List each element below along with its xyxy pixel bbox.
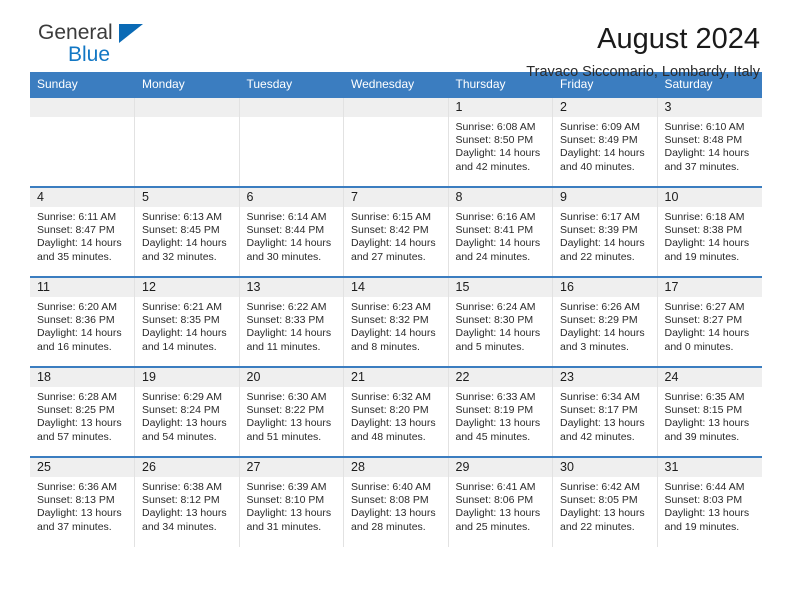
day-info: Sunrise: 6:22 AM Sunset: 8:33 PM Dayligh… [240,297,344,354]
sunrise-sunset-calendar: Sunday Monday Tuesday Wednesday Thursday… [30,72,762,547]
daylight-text-line1: Daylight: 14 hours [665,327,758,340]
sunrise-text: Sunrise: 6:35 AM [665,391,758,404]
daylight-text-line1: Daylight: 13 hours [142,417,235,430]
day-cell[interactable]: 22 Sunrise: 6:33 AM Sunset: 8:19 PM Dayl… [448,367,553,457]
weekday-header-wednesday: Wednesday [344,72,449,97]
daylight-text-line2: and 16 minutes. [37,341,130,354]
day-cell[interactable]: 16 Sunrise: 6:26 AM Sunset: 8:29 PM Dayl… [553,277,658,367]
daylight-text-line2: and 42 minutes. [560,431,653,444]
daylight-text-line1: Daylight: 14 hours [247,237,340,250]
sunset-text: Sunset: 8:39 PM [560,224,653,237]
day-cell[interactable]: 8 Sunrise: 6:16 AM Sunset: 8:41 PM Dayli… [448,187,553,277]
daylight-text-line1: Daylight: 13 hours [456,507,549,520]
day-info [240,117,344,121]
day-number: 15 [449,278,553,297]
sunrise-text: Sunrise: 6:33 AM [456,391,549,404]
sunrise-text: Sunrise: 6:40 AM [351,481,444,494]
day-info: Sunrise: 6:08 AM Sunset: 8:50 PM Dayligh… [449,117,553,174]
day-cell[interactable]: 26 Sunrise: 6:38 AM Sunset: 8:12 PM Dayl… [135,457,240,547]
sunset-text: Sunset: 8:13 PM [37,494,130,507]
sunset-text: Sunset: 8:44 PM [247,224,340,237]
sunrise-text: Sunrise: 6:21 AM [142,301,235,314]
sunrise-text: Sunrise: 6:23 AM [351,301,444,314]
daylight-text-line1: Daylight: 14 hours [37,327,130,340]
sunrise-text: Sunrise: 6:36 AM [37,481,130,494]
day-info: Sunrise: 6:24 AM Sunset: 8:30 PM Dayligh… [449,297,553,354]
day-info: Sunrise: 6:40 AM Sunset: 8:08 PM Dayligh… [344,477,448,534]
daylight-text-line1: Daylight: 13 hours [665,507,758,520]
sunset-text: Sunset: 8:08 PM [351,494,444,507]
day-info [135,117,239,121]
day-cell[interactable]: 14 Sunrise: 6:23 AM Sunset: 8:32 PM Dayl… [344,277,449,367]
sunrise-text: Sunrise: 6:13 AM [142,211,235,224]
day-cell[interactable] [344,97,449,187]
weekday-header-monday: Monday [135,72,240,97]
page-header: General Blue August 2024 Travaco Siccoma… [30,0,762,72]
day-cell[interactable]: 23 Sunrise: 6:34 AM Sunset: 8:17 PM Dayl… [553,367,658,457]
sunrise-text: Sunrise: 6:30 AM [247,391,340,404]
week-row: 4 Sunrise: 6:11 AM Sunset: 8:47 PM Dayli… [30,187,762,277]
sunrise-text: Sunrise: 6:16 AM [456,211,549,224]
day-number: 7 [344,188,448,207]
daylight-text-line2: and 19 minutes. [665,521,758,534]
daylight-text-line2: and 42 minutes. [456,161,549,174]
day-number [135,98,239,117]
sunrise-text: Sunrise: 6:39 AM [247,481,340,494]
daylight-text-line2: and 5 minutes. [456,341,549,354]
daylight-text-line1: Daylight: 13 hours [351,507,444,520]
daylight-text-line1: Daylight: 14 hours [142,237,235,250]
daylight-text-line1: Daylight: 14 hours [142,327,235,340]
day-number: 11 [30,278,134,297]
day-cell[interactable]: 21 Sunrise: 6:32 AM Sunset: 8:20 PM Dayl… [344,367,449,457]
week-row: 18 Sunrise: 6:28 AM Sunset: 8:25 PM Dayl… [30,367,762,457]
sunrise-text: Sunrise: 6:20 AM [37,301,130,314]
daylight-text-line2: and 39 minutes. [665,431,758,444]
sunset-text: Sunset: 8:12 PM [142,494,235,507]
sunrise-text: Sunrise: 6:42 AM [560,481,653,494]
daylight-text-line2: and 45 minutes. [456,431,549,444]
day-number: 14 [344,278,448,297]
daylight-text-line2: and 35 minutes. [37,251,130,264]
daylight-text-line1: Daylight: 14 hours [665,237,758,250]
sunrise-text: Sunrise: 6:34 AM [560,391,653,404]
sunrise-text: Sunrise: 6:11 AM [37,211,130,224]
day-cell[interactable]: 5 Sunrise: 6:13 AM Sunset: 8:45 PM Dayli… [135,187,240,277]
day-cell[interactable]: 31 Sunrise: 6:44 AM Sunset: 8:03 PM Dayl… [657,457,762,547]
day-info: Sunrise: 6:09 AM Sunset: 8:49 PM Dayligh… [553,117,657,174]
sunrise-text: Sunrise: 6:27 AM [665,301,758,314]
day-info: Sunrise: 6:18 AM Sunset: 8:38 PM Dayligh… [658,207,762,264]
day-number: 27 [240,458,344,477]
sunset-text: Sunset: 8:10 PM [247,494,340,507]
day-info: Sunrise: 6:29 AM Sunset: 8:24 PM Dayligh… [135,387,239,444]
daylight-text-line1: Daylight: 14 hours [37,237,130,250]
day-cell[interactable]: 20 Sunrise: 6:30 AM Sunset: 8:22 PM Dayl… [239,367,344,457]
daylight-text-line2: and 11 minutes. [247,341,340,354]
calendar-page: General Blue August 2024 Travaco Siccoma… [0,0,792,612]
sunset-text: Sunset: 8:24 PM [142,404,235,417]
sunset-text: Sunset: 8:38 PM [665,224,758,237]
sunset-text: Sunset: 8:03 PM [665,494,758,507]
sunrise-text: Sunrise: 6:17 AM [560,211,653,224]
sunset-text: Sunset: 8:47 PM [37,224,130,237]
daylight-text-line1: Daylight: 14 hours [456,237,549,250]
daylight-text-line1: Daylight: 14 hours [456,327,549,340]
sunrise-text: Sunrise: 6:26 AM [560,301,653,314]
daylight-text-line2: and 40 minutes. [560,161,653,174]
daylight-text-line1: Daylight: 13 hours [560,507,653,520]
daylight-text-line1: Daylight: 14 hours [560,237,653,250]
daylight-text-line2: and 8 minutes. [351,341,444,354]
day-cell[interactable] [239,97,344,187]
day-number: 31 [658,458,762,477]
day-number: 21 [344,368,448,387]
daylight-text-line2: and 22 minutes. [560,251,653,264]
day-cell[interactable]: 27 Sunrise: 6:39 AM Sunset: 8:10 PM Dayl… [239,457,344,547]
sunrise-text: Sunrise: 6:24 AM [456,301,549,314]
daylight-text-line1: Daylight: 13 hours [351,417,444,430]
day-number: 10 [658,188,762,207]
sunset-text: Sunset: 8:27 PM [665,314,758,327]
day-cell[interactable]: 7 Sunrise: 6:15 AM Sunset: 8:42 PM Dayli… [344,187,449,277]
sunrise-text: Sunrise: 6:32 AM [351,391,444,404]
day-cell[interactable]: 9 Sunrise: 6:17 AM Sunset: 8:39 PM Dayli… [553,187,658,277]
sunset-text: Sunset: 8:32 PM [351,314,444,327]
sunset-text: Sunset: 8:19 PM [456,404,549,417]
daylight-text-line1: Daylight: 13 hours [665,417,758,430]
day-number [30,98,134,117]
daylight-text-line2: and 31 minutes. [247,521,340,534]
sunrise-text: Sunrise: 6:41 AM [456,481,549,494]
daylight-text-line1: Daylight: 13 hours [247,417,340,430]
day-info: Sunrise: 6:32 AM Sunset: 8:20 PM Dayligh… [344,387,448,444]
sunset-text: Sunset: 8:41 PM [456,224,549,237]
day-info: Sunrise: 6:35 AM Sunset: 8:15 PM Dayligh… [658,387,762,444]
day-number: 24 [658,368,762,387]
daylight-text-line2: and 22 minutes. [560,521,653,534]
day-number: 18 [30,368,134,387]
day-info: Sunrise: 6:21 AM Sunset: 8:35 PM Dayligh… [135,297,239,354]
daylight-text-line2: and 37 minutes. [37,521,130,534]
sunrise-text: Sunrise: 6:29 AM [142,391,235,404]
daylight-text-line2: and 25 minutes. [456,521,549,534]
day-cell[interactable]: 19 Sunrise: 6:29 AM Sunset: 8:24 PM Dayl… [135,367,240,457]
day-cell[interactable]: 29 Sunrise: 6:41 AM Sunset: 8:06 PM Dayl… [448,457,553,547]
day-info: Sunrise: 6:39 AM Sunset: 8:10 PM Dayligh… [240,477,344,534]
day-number: 23 [553,368,657,387]
sunset-text: Sunset: 8:48 PM [665,134,758,147]
day-cell[interactable]: 25 Sunrise: 6:36 AM Sunset: 8:13 PM Dayl… [30,457,135,547]
sunset-text: Sunset: 8:15 PM [665,404,758,417]
daylight-text-line2: and 19 minutes. [665,251,758,264]
daylight-text-line2: and 51 minutes. [247,431,340,444]
day-info: Sunrise: 6:16 AM Sunset: 8:41 PM Dayligh… [449,207,553,264]
daylight-text-line2: and 24 minutes. [456,251,549,264]
day-info: Sunrise: 6:11 AM Sunset: 8:47 PM Dayligh… [30,207,134,264]
daylight-text-line1: Daylight: 13 hours [456,417,549,430]
sunset-text: Sunset: 8:22 PM [247,404,340,417]
day-info: Sunrise: 6:44 AM Sunset: 8:03 PM Dayligh… [658,477,762,534]
daylight-text-line1: Daylight: 14 hours [560,147,653,160]
day-info: Sunrise: 6:34 AM Sunset: 8:17 PM Dayligh… [553,387,657,444]
daylight-text-line2: and 37 minutes. [665,161,758,174]
daylight-text-line2: and 57 minutes. [37,431,130,444]
day-number: 28 [344,458,448,477]
sunset-text: Sunset: 8:50 PM [456,134,549,147]
sunset-text: Sunset: 8:06 PM [456,494,549,507]
day-cell[interactable]: 18 Sunrise: 6:28 AM Sunset: 8:25 PM Dayl… [30,367,135,457]
sunset-text: Sunset: 8:17 PM [560,404,653,417]
day-cell[interactable]: 30 Sunrise: 6:42 AM Sunset: 8:05 PM Dayl… [553,457,658,547]
day-info [344,117,448,121]
daylight-text-line2: and 3 minutes. [560,341,653,354]
daylight-text-line2: and 34 minutes. [142,521,235,534]
general-blue-logo: General Blue [30,22,180,70]
daylight-text-line1: Daylight: 14 hours [351,327,444,340]
day-number [240,98,344,117]
logo-text-blue: Blue [68,44,180,66]
day-info: Sunrise: 6:23 AM Sunset: 8:32 PM Dayligh… [344,297,448,354]
day-info: Sunrise: 6:15 AM Sunset: 8:42 PM Dayligh… [344,207,448,264]
day-info: Sunrise: 6:33 AM Sunset: 8:19 PM Dayligh… [449,387,553,444]
day-number [344,98,448,117]
sunset-text: Sunset: 8:42 PM [351,224,444,237]
day-cell[interactable]: 2 Sunrise: 6:09 AM Sunset: 8:49 PM Dayli… [553,97,658,187]
daylight-text-line1: Daylight: 14 hours [456,147,549,160]
day-number: 9 [553,188,657,207]
calendar-body: 1 Sunrise: 6:08 AM Sunset: 8:50 PM Dayli… [30,97,762,547]
daylight-text-line2: and 32 minutes. [142,251,235,264]
day-info: Sunrise: 6:26 AM Sunset: 8:29 PM Dayligh… [553,297,657,354]
day-cell[interactable] [135,97,240,187]
day-number: 8 [449,188,553,207]
week-row: 1 Sunrise: 6:08 AM Sunset: 8:50 PM Dayli… [30,97,762,187]
sunset-text: Sunset: 8:35 PM [142,314,235,327]
day-number: 17 [658,278,762,297]
day-info: Sunrise: 6:27 AM Sunset: 8:27 PM Dayligh… [658,297,762,354]
day-number: 4 [30,188,134,207]
daylight-text-line1: Daylight: 13 hours [560,417,653,430]
day-info: Sunrise: 6:20 AM Sunset: 8:36 PM Dayligh… [30,297,134,354]
day-info: Sunrise: 6:10 AM Sunset: 8:48 PM Dayligh… [658,117,762,174]
weekday-header-sunday: Sunday [30,72,135,97]
page-title: August 2024 [526,22,760,56]
title-block: August 2024 Travaco Siccomario, Lombardy… [526,22,762,82]
sunrise-text: Sunrise: 6:18 AM [665,211,758,224]
day-number: 12 [135,278,239,297]
day-cell[interactable]: 1 Sunrise: 6:08 AM Sunset: 8:50 PM Dayli… [448,97,553,187]
daylight-text-line2: and 28 minutes. [351,521,444,534]
day-cell[interactable]: 6 Sunrise: 6:14 AM Sunset: 8:44 PM Dayli… [239,187,344,277]
day-cell[interactable]: 11 Sunrise: 6:20 AM Sunset: 8:36 PM Dayl… [30,277,135,367]
day-info: Sunrise: 6:28 AM Sunset: 8:25 PM Dayligh… [30,387,134,444]
week-row: 11 Sunrise: 6:20 AM Sunset: 8:36 PM Dayl… [30,277,762,367]
daylight-text-line2: and 0 minutes. [665,341,758,354]
logo-triangle-icon [119,24,143,43]
sunrise-text: Sunrise: 6:22 AM [247,301,340,314]
daylight-text-line1: Daylight: 14 hours [247,327,340,340]
sunset-text: Sunset: 8:36 PM [37,314,130,327]
day-number: 3 [658,98,762,117]
day-cell[interactable]: 3 Sunrise: 6:10 AM Sunset: 8:48 PM Dayli… [657,97,762,187]
sunset-text: Sunset: 8:25 PM [37,404,130,417]
daylight-text-line1: Daylight: 14 hours [560,327,653,340]
weekday-header-tuesday: Tuesday [239,72,344,97]
day-cell[interactable]: 4 Sunrise: 6:11 AM Sunset: 8:47 PM Dayli… [30,187,135,277]
sunset-text: Sunset: 8:30 PM [456,314,549,327]
day-number: 20 [240,368,344,387]
day-number: 5 [135,188,239,207]
daylight-text-line1: Daylight: 14 hours [665,147,758,160]
sunset-text: Sunset: 8:29 PM [560,314,653,327]
day-number: 25 [30,458,134,477]
day-info: Sunrise: 6:38 AM Sunset: 8:12 PM Dayligh… [135,477,239,534]
day-cell[interactable]: 15 Sunrise: 6:24 AM Sunset: 8:30 PM Dayl… [448,277,553,367]
day-number: 19 [135,368,239,387]
day-cell[interactable]: 17 Sunrise: 6:27 AM Sunset: 8:27 PM Dayl… [657,277,762,367]
day-cell[interactable]: 10 Sunrise: 6:18 AM Sunset: 8:38 PM Dayl… [657,187,762,277]
day-number: 6 [240,188,344,207]
daylight-text-line2: and 14 minutes. [142,341,235,354]
day-info: Sunrise: 6:36 AM Sunset: 8:13 PM Dayligh… [30,477,134,534]
sunrise-text: Sunrise: 6:28 AM [37,391,130,404]
day-cell[interactable]: 13 Sunrise: 6:22 AM Sunset: 8:33 PM Dayl… [239,277,344,367]
daylight-text-line1: Daylight: 13 hours [142,507,235,520]
sunset-text: Sunset: 8:05 PM [560,494,653,507]
daylight-text-line1: Daylight: 13 hours [247,507,340,520]
daylight-text-line2: and 48 minutes. [351,431,444,444]
day-number: 13 [240,278,344,297]
day-info: Sunrise: 6:17 AM Sunset: 8:39 PM Dayligh… [553,207,657,264]
week-row: 25 Sunrise: 6:36 AM Sunset: 8:13 PM Dayl… [30,457,762,547]
sunrise-text: Sunrise: 6:38 AM [142,481,235,494]
day-number: 16 [553,278,657,297]
day-number: 1 [449,98,553,117]
daylight-text-line2: and 30 minutes. [247,251,340,264]
sunrise-text: Sunrise: 6:44 AM [665,481,758,494]
day-cell[interactable] [30,97,135,187]
sunrise-text: Sunrise: 6:09 AM [560,121,653,134]
day-cell[interactable]: 12 Sunrise: 6:21 AM Sunset: 8:35 PM Dayl… [135,277,240,367]
daylight-text-line1: Daylight: 13 hours [37,417,130,430]
day-number: 29 [449,458,553,477]
sunset-text: Sunset: 8:33 PM [247,314,340,327]
day-number: 22 [449,368,553,387]
sunset-text: Sunset: 8:45 PM [142,224,235,237]
day-number: 26 [135,458,239,477]
day-info: Sunrise: 6:13 AM Sunset: 8:45 PM Dayligh… [135,207,239,264]
day-info [30,117,134,121]
day-info: Sunrise: 6:42 AM Sunset: 8:05 PM Dayligh… [553,477,657,534]
daylight-text-line1: Daylight: 13 hours [37,507,130,520]
logo-text-general: General [38,22,180,44]
sunset-text: Sunset: 8:20 PM [351,404,444,417]
sunrise-text: Sunrise: 6:10 AM [665,121,758,134]
sunrise-text: Sunrise: 6:15 AM [351,211,444,224]
day-cell[interactable]: 24 Sunrise: 6:35 AM Sunset: 8:15 PM Dayl… [657,367,762,457]
day-cell[interactable]: 28 Sunrise: 6:40 AM Sunset: 8:08 PM Dayl… [344,457,449,547]
daylight-text-line2: and 54 minutes. [142,431,235,444]
day-info: Sunrise: 6:41 AM Sunset: 8:06 PM Dayligh… [449,477,553,534]
sunrise-text: Sunrise: 6:08 AM [456,121,549,134]
day-number: 30 [553,458,657,477]
day-number: 2 [553,98,657,117]
sunset-text: Sunset: 8:49 PM [560,134,653,147]
sunrise-text: Sunrise: 6:14 AM [247,211,340,224]
daylight-text-line2: and 27 minutes. [351,251,444,264]
day-info: Sunrise: 6:30 AM Sunset: 8:22 PM Dayligh… [240,387,344,444]
daylight-text-line1: Daylight: 14 hours [351,237,444,250]
day-info: Sunrise: 6:14 AM Sunset: 8:44 PM Dayligh… [240,207,344,264]
